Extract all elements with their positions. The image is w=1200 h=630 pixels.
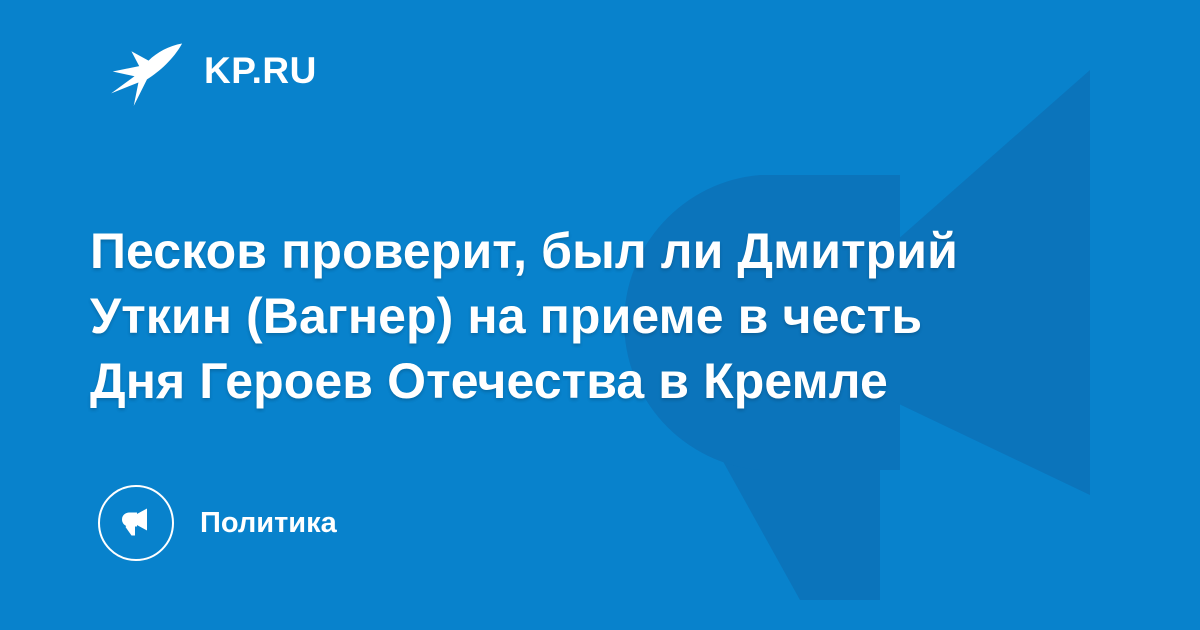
headline-line-2: Уткин (Вагнер) на приеме в честь <box>90 284 1100 349</box>
category-badge[interactable]: Политика <box>98 483 337 563</box>
swallow-bird-icon <box>108 31 186 109</box>
megaphone-icon <box>98 485 174 561</box>
headline-line-3: Дня Героев Отечества в Кремле <box>90 349 1100 414</box>
site-logo[interactable]: KP.RU <box>108 32 317 108</box>
headline: Песков проверит, был ли Дмитрий Уткин (В… <box>90 219 1100 414</box>
news-share-card: KP.RU Песков проверит, был ли Дмитрий Ут… <box>0 0 1200 630</box>
headline-line-1: Песков проверит, был ли Дмитрий <box>90 219 1100 284</box>
site-logo-text: KP.RU <box>204 52 317 89</box>
category-label: Политика <box>200 509 337 538</box>
